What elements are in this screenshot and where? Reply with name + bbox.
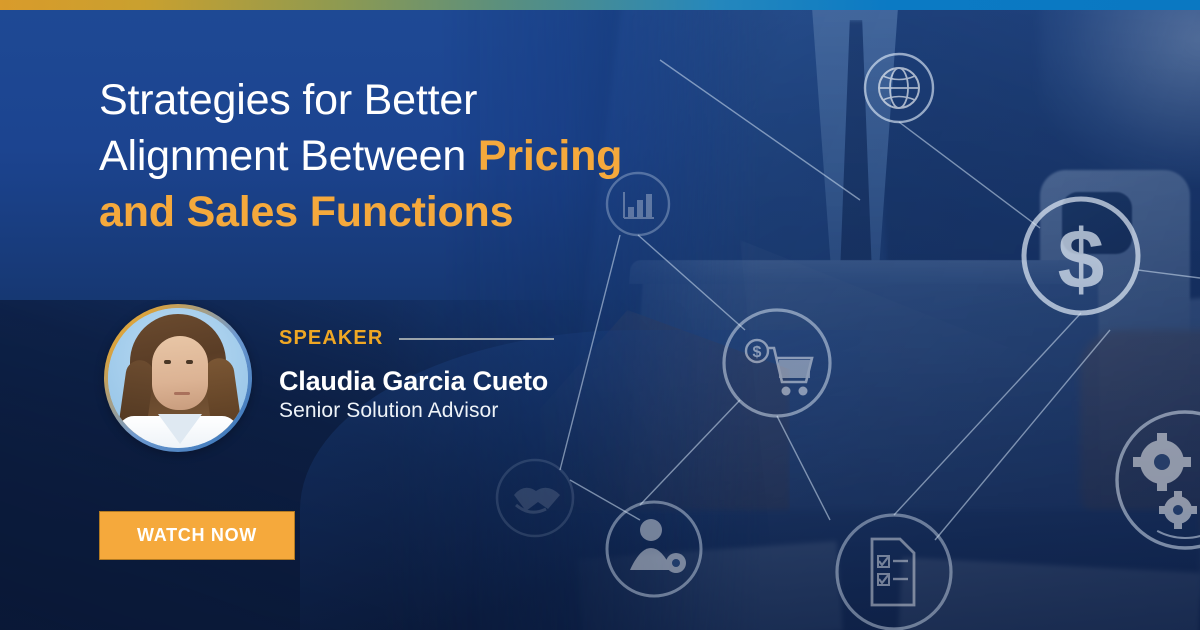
avatar-photo — [108, 308, 248, 448]
avatar — [104, 304, 252, 452]
title-line-2-plain: Alignment Between — [99, 132, 478, 180]
watch-now-label: WATCH NOW — [137, 525, 257, 546]
speaker-divider — [399, 338, 554, 340]
webinar-promo-banner: $ $ — [0, 0, 1200, 630]
watch-now-button[interactable]: WATCH NOW — [99, 511, 295, 560]
speaker-name: Claudia Garcia Cueto — [279, 366, 548, 397]
speaker-role: Senior Solution Advisor — [279, 399, 498, 423]
top-accent-bar — [0, 0, 1200, 10]
title-line-1: Strategies for Better — [99, 76, 477, 124]
speaker-label: SPEAKER — [279, 327, 383, 350]
title-highlight-pricing: Pricing — [478, 132, 622, 180]
banner-content: Strategies for Better Alignment Between … — [0, 0, 1200, 630]
page-title: Strategies for Better Alignment Between … — [99, 72, 739, 240]
title-line-3: and Sales Functions — [99, 188, 513, 236]
